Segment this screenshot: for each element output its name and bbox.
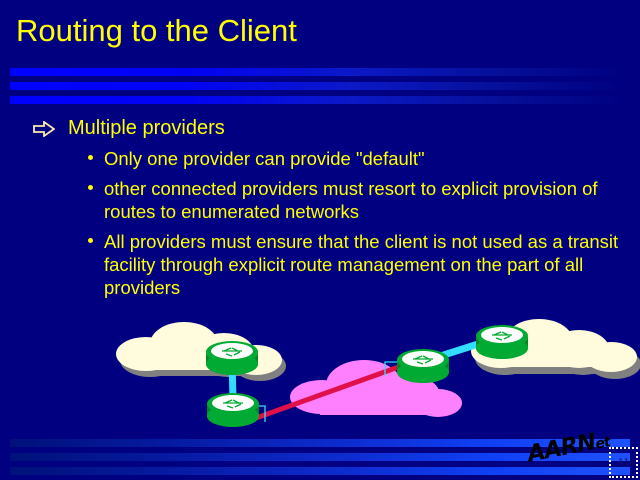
bullet-dot-icon bbox=[88, 155, 93, 160]
decor-bar-top-3 bbox=[10, 96, 630, 104]
bullet-level2-text: All providers must ensure that the clien… bbox=[104, 231, 618, 298]
slide-canvas: Routing to the Client Multiple providers… bbox=[0, 0, 640, 480]
network-diagram bbox=[0, 300, 640, 450]
router-upper-right bbox=[476, 325, 528, 359]
router-upper-left bbox=[206, 341, 258, 375]
router-lower-left bbox=[207, 393, 259, 427]
bullet-level2: All providers must ensure that the clien… bbox=[0, 230, 640, 299]
bullet-dot-icon bbox=[88, 238, 93, 243]
bullet-level2-text: Only one provider can provide "default" bbox=[104, 148, 425, 169]
page-number: 111 bbox=[618, 458, 635, 468]
bullet-level1: Multiple providers bbox=[0, 116, 640, 141]
decor-bar-bottom-3 bbox=[10, 467, 630, 475]
bullet-level2: other connected providers must resort to… bbox=[0, 177, 640, 223]
decor-bar-top-1 bbox=[10, 68, 630, 76]
page-title: Routing to the Client bbox=[16, 13, 297, 49]
bullet-level2-text: other connected providers must resort to… bbox=[104, 178, 598, 222]
bullet-level2: Only one provider can provide "default" bbox=[0, 147, 640, 170]
provider-cloud-left bbox=[116, 322, 286, 381]
router-center bbox=[397, 349, 449, 383]
bullet-list: Multiple providers Only one provider can… bbox=[0, 116, 640, 306]
decor-bar-top-2 bbox=[10, 82, 630, 90]
arrow-right-outline-icon bbox=[33, 119, 55, 135]
bullet-dot-icon bbox=[88, 185, 93, 190]
bullet-level1-text: Multiple providers bbox=[68, 117, 225, 139]
